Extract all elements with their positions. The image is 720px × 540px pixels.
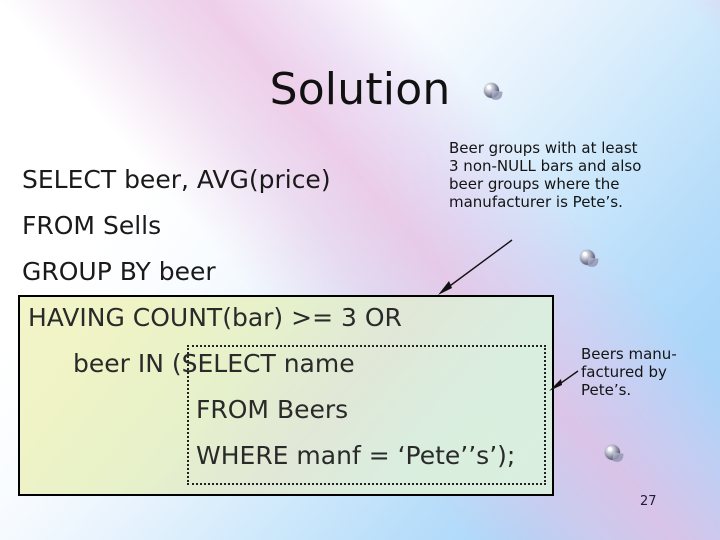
slide-canvas: Solution SELECT beer, AVG(price) FROM Se… <box>0 0 720 540</box>
annotation-subquery-arrow <box>0 0 720 540</box>
page-number: 27 <box>640 494 670 510</box>
